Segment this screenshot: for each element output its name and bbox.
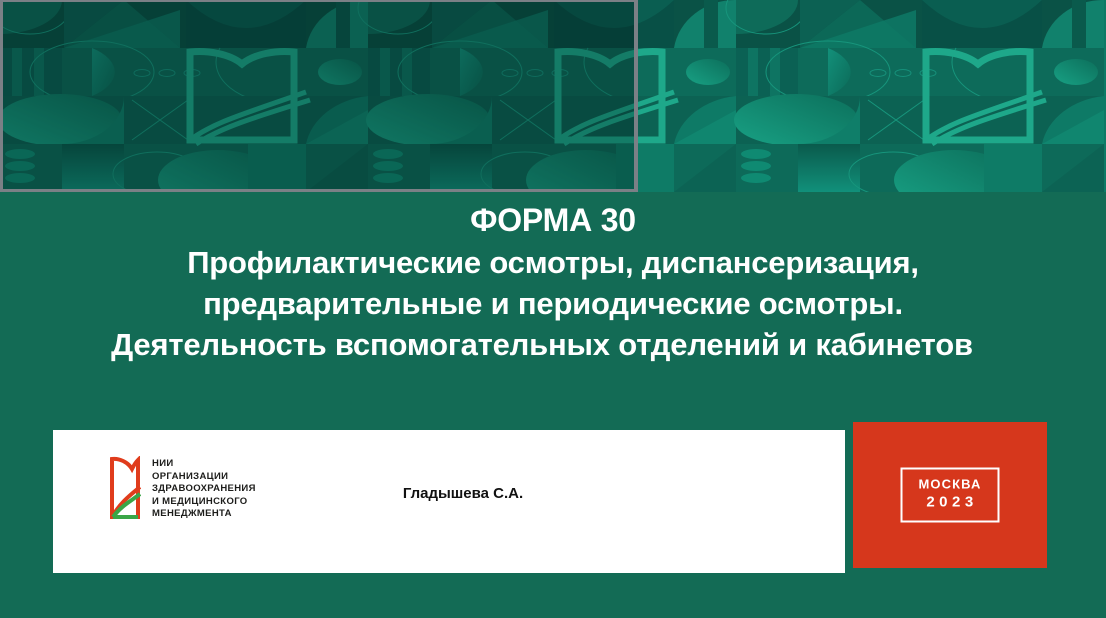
moscow-city-label: МОСКВА bbox=[919, 477, 982, 493]
author-label: Гладышева С.А. bbox=[81, 485, 845, 502]
subtitle-line-2: предварительные и периодические осмотры. bbox=[0, 283, 1106, 324]
logo-line-2: ОРГАНИЗАЦИИ bbox=[152, 471, 256, 484]
moscow-year-label: 2023 bbox=[923, 493, 982, 513]
subtitle-line-1: Профилактические осмотры, диспансеризаци… bbox=[0, 242, 1106, 283]
footer-card: НИИ ОРГАНИЗАЦИИ ЗДРАВООХРАНЕНИЯ И МЕДИЦИ… bbox=[53, 430, 845, 573]
logo-line-1: НИИ bbox=[152, 458, 256, 471]
presentation-slide: ФОРМА 30 Профилактические осмотры, диспа… bbox=[0, 0, 1106, 618]
title-block: ФОРМА 30 Профилактические осмотры, диспа… bbox=[0, 192, 1106, 365]
page-title: ФОРМА 30 bbox=[0, 198, 1106, 242]
moscow-badge-frame: МОСКВА 2023 bbox=[901, 468, 1000, 523]
banner-pattern-graphic bbox=[0, 0, 1106, 192]
logo-line-5: МЕНЕДЖМЕНТА bbox=[152, 508, 256, 521]
title-banner bbox=[0, 0, 1106, 192]
moscow-badge: МОСКВА 2023 bbox=[853, 422, 1047, 568]
subtitle-line-3: Деятельность вспомогательных отделений и… bbox=[0, 324, 1106, 365]
